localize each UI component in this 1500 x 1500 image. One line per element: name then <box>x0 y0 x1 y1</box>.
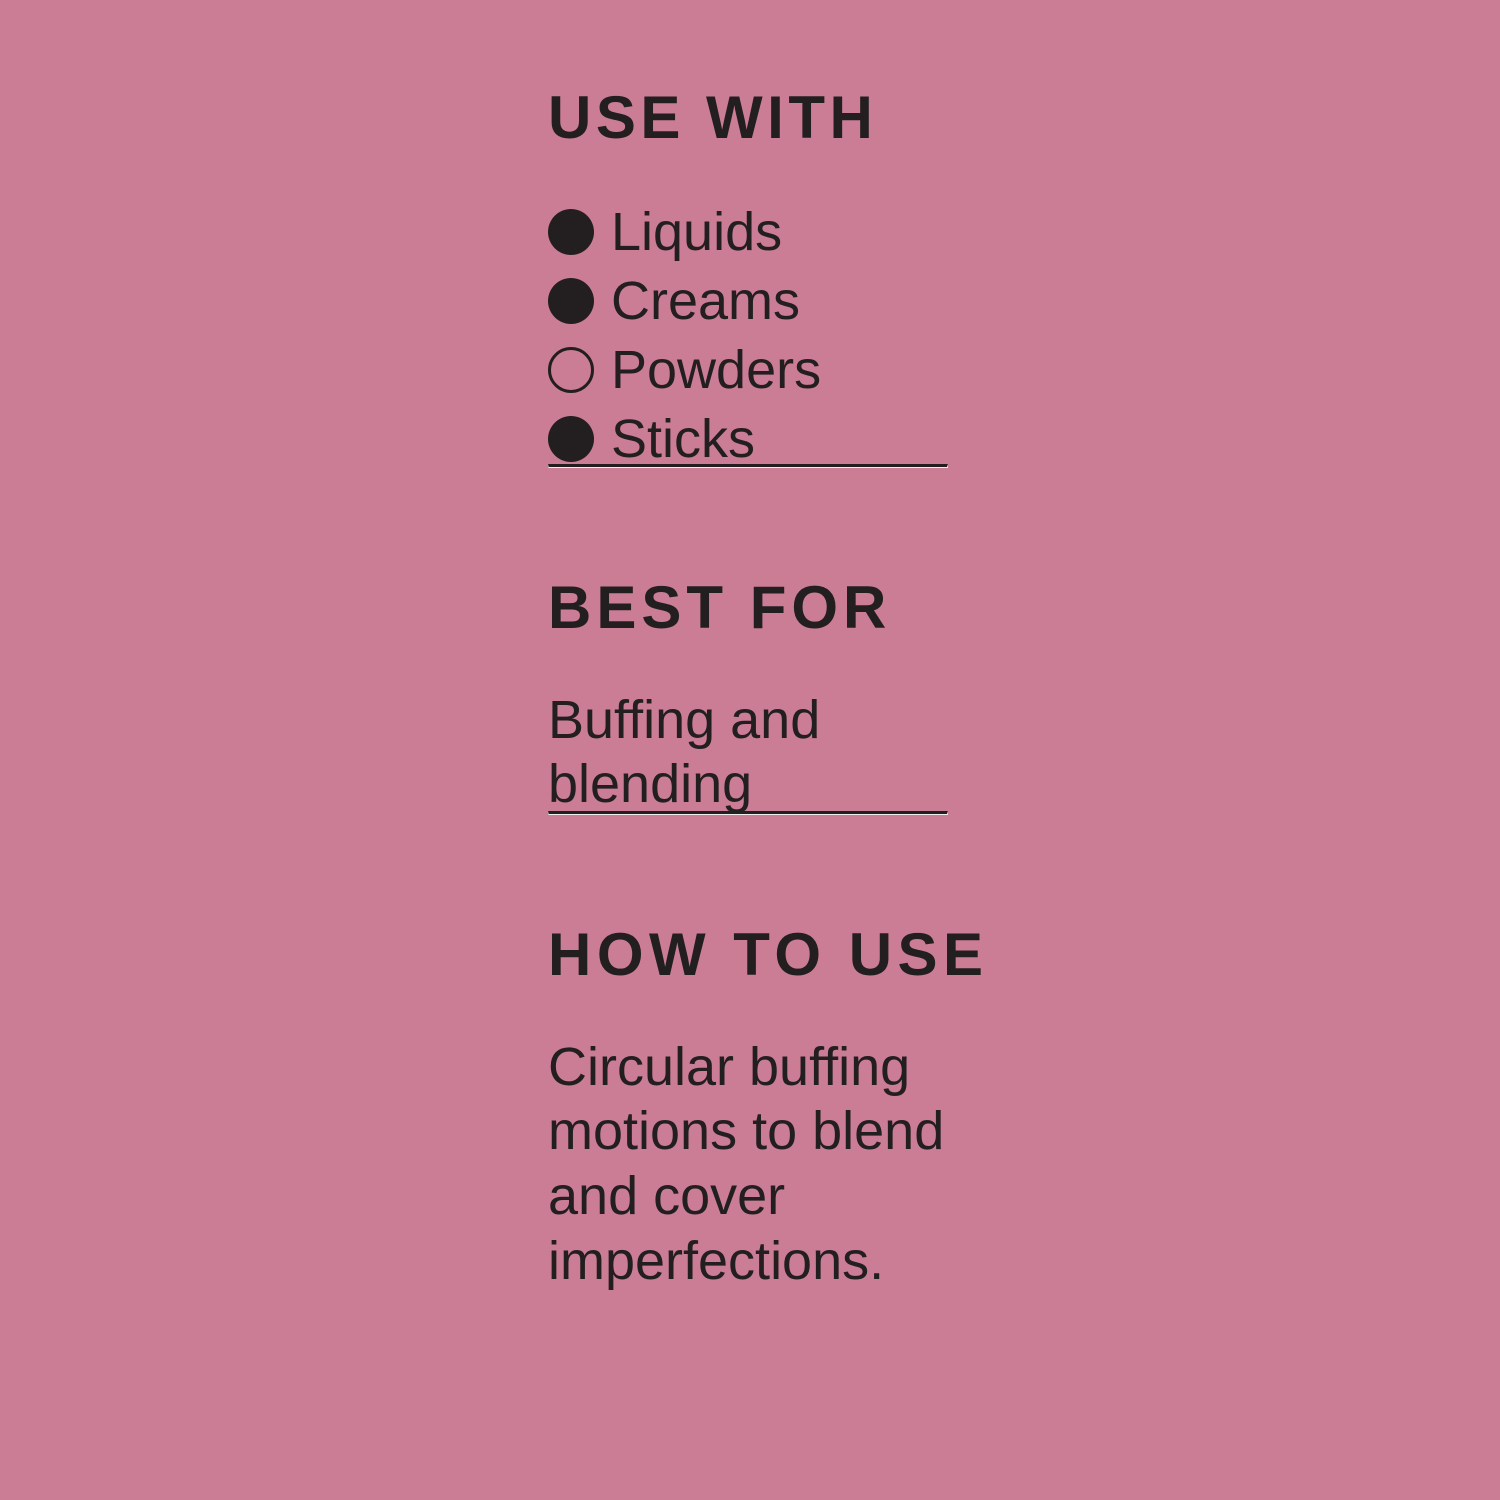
list-item-creams: Creams <box>548 267 968 336</box>
section-divider <box>548 811 948 815</box>
product-info-card: USE WITH Liquids Creams Powders Sticks B… <box>548 0 968 1500</box>
filled-circle-icon <box>548 278 594 324</box>
filled-circle-icon <box>548 416 594 462</box>
list-item-label: Powders <box>611 343 821 397</box>
hollow-circle-icon <box>548 347 594 393</box>
use-with-heading: USE WITH <box>548 88 968 148</box>
list-item-label: Liquids <box>611 205 782 259</box>
section-divider <box>548 464 948 468</box>
best-for-heading: BEST FOR <box>548 578 968 638</box>
list-item-label: Sticks <box>611 412 755 466</box>
list-item-label: Creams <box>611 274 800 328</box>
how-to-use-body: Circular buffing motions to blend and co… <box>548 1035 948 1294</box>
use-with-list: Liquids Creams Powders Sticks <box>548 198 968 474</box>
how-to-use-heading: HOW TO USE <box>548 925 968 985</box>
use-with-section: USE WITH Liquids Creams Powders Sticks <box>548 38 968 474</box>
filled-circle-icon <box>548 209 594 255</box>
best-for-body: Buffing and blending <box>548 688 948 818</box>
list-item-liquids: Liquids <box>548 198 968 267</box>
list-item-powders: Powders <box>548 336 968 405</box>
best-for-section: BEST FOR Buffing and blending <box>548 528 968 871</box>
how-to-use-section: HOW TO USE Circular buffing motions to b… <box>548 875 968 1348</box>
